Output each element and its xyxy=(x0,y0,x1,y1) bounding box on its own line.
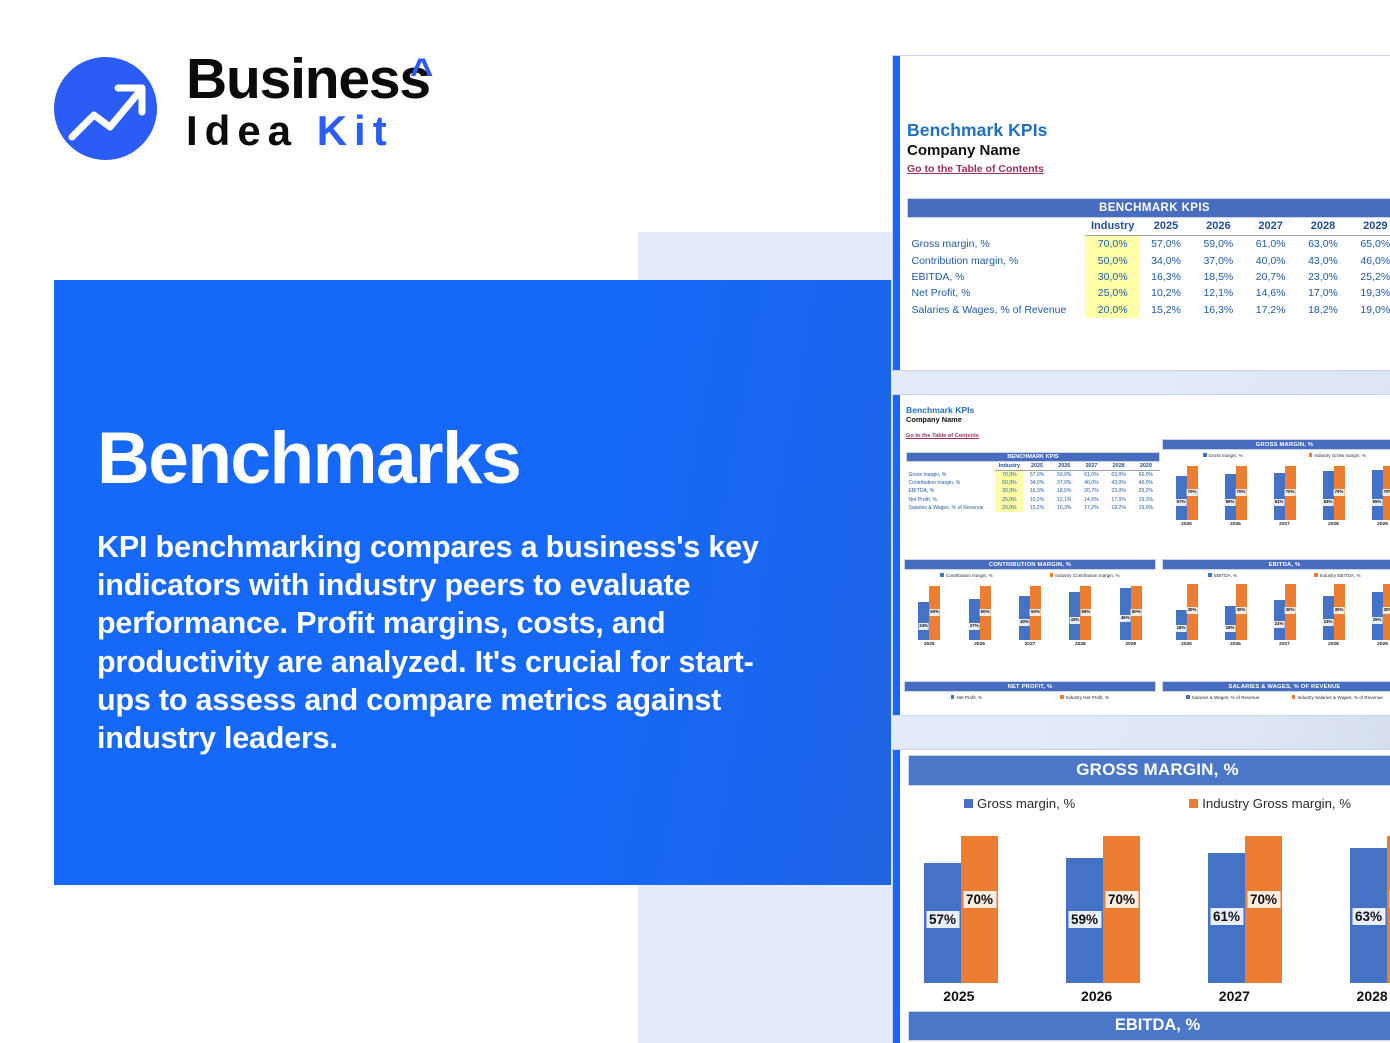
mini-chart-legend: Salaries & Wages, % of Revenue Industry … xyxy=(1162,692,1390,700)
row-label: Gross margin, % xyxy=(908,236,1086,253)
bar-industry: 30% xyxy=(1334,584,1345,640)
bar-company: 37% xyxy=(969,599,980,640)
col-header-2028: 2028 xyxy=(1105,462,1132,471)
mini-chart-x-axis: 2025 2026 2027 2028 2029 xyxy=(1162,640,1390,647)
table-row: Net Profit, % 25,0% 10,2% 12,1% 14,6% 17… xyxy=(908,285,1390,301)
bar-group-2027: 61% 70% xyxy=(1208,836,1282,983)
mini-chart-title: SALARIES & WAGES, % OF REVENUE xyxy=(1162,681,1390,692)
bar-group-2025: 57% 70% xyxy=(924,836,998,983)
cell-2025: 57,0% xyxy=(1140,236,1192,253)
legend-swatch-icon xyxy=(1314,573,1318,577)
x-tick: 2026 xyxy=(1230,522,1241,527)
bar-industry: 30% xyxy=(1383,584,1390,640)
legend-swatch-icon xyxy=(1292,695,1296,699)
chart-title: GROSS MARGIN, % xyxy=(908,755,1390,786)
bar-industry-2027: 70% xyxy=(1245,836,1282,983)
bar-company-2026: 59% xyxy=(1066,858,1103,983)
col-header-2029: 2029 xyxy=(1349,218,1390,236)
legend-swatch-icon xyxy=(1050,573,1054,577)
mini-chart-legend: EBITDA, % Industry EBITDA, % xyxy=(1162,570,1390,578)
chart-x-axis: 2025 2026 2027 2028 xyxy=(908,988,1390,1004)
cell-2028: 63,0% xyxy=(1297,236,1349,253)
brand-logo[interactable]: Business ^ Idea Kit xyxy=(54,48,474,166)
brand-idea-text: Idea xyxy=(186,107,317,154)
row-label: EBITDA, % xyxy=(908,269,1086,285)
table-band-header: BENCHMARK KPIS xyxy=(908,199,1390,218)
x-tick: 2028 xyxy=(1328,522,1339,527)
table-row: Contribution margin, % 50,0% 34,0% 37,0%… xyxy=(908,252,1390,268)
mini-chart-title: EBITDA, % xyxy=(1162,559,1390,570)
bar-group: 18% 30% xyxy=(1225,584,1247,640)
cell-2027: 20,7% xyxy=(1245,269,1297,285)
x-tick: 2029 xyxy=(1377,642,1388,647)
legend-swatch-icon xyxy=(1309,453,1313,457)
mini-chart-title: CONTRIBUTION MARGIN, % xyxy=(904,559,1156,570)
bar-company: 18% xyxy=(1225,606,1236,640)
cell-industry: 25,0% xyxy=(1085,285,1139,301)
bar-company: 16% xyxy=(1176,610,1187,640)
table-of-contents-link[interactable]: Go to the Table of Contents xyxy=(906,433,979,439)
bar-group: 43% 50% xyxy=(1069,586,1091,640)
benchmark-kpis-table: BENCHMARK KPIS Industry 2025 2026 2027 2… xyxy=(907,198,1390,318)
mini-chart-x-axis: 2025 2026 2027 2028 2029 xyxy=(904,640,1156,647)
bar-company-2027: 61% xyxy=(1208,853,1245,983)
x-tick: 2027 xyxy=(1279,642,1290,647)
bar-company: 59% xyxy=(1225,474,1236,520)
table-of-contents-link[interactable]: Go to the Table of Contents xyxy=(907,163,1044,175)
cell-2029: 25,2% xyxy=(1349,269,1390,285)
cell-industry: 50,0% xyxy=(1085,252,1139,268)
mini-chart-x-axis: 2025 2026 2027 2028 2029 xyxy=(1162,520,1390,527)
x-tick: 2029 xyxy=(1125,642,1136,647)
mini-chart-plot: 16% 30% 18% 30% 21% 30% 23% 30% xyxy=(1162,578,1390,640)
bar-industry: 50% xyxy=(980,586,991,640)
content-callout-box: Benchmarks KPI benchmarking compares a b… xyxy=(54,280,891,885)
mini-chart-gross-margin[interactable]: GROSS MARGIN, % Gross margin, % Industry… xyxy=(1162,439,1390,527)
bar-group: 25% 30% xyxy=(1372,584,1390,640)
legend-label: Industry Net Profit, % xyxy=(1066,695,1109,700)
mini-chart-plot: 34% 50% 37% 50% 40% 50% 43% 50% xyxy=(904,578,1156,640)
chart-panel-gross-margin-large[interactable]: GROSS MARGIN, % Gross margin, % Industry… xyxy=(893,750,1390,1043)
bar-industry: 30% xyxy=(1187,584,1198,640)
bar-group-2026: 59% 70% xyxy=(1066,836,1140,983)
cell-2026: 37,0% xyxy=(1192,252,1244,268)
legend-label: Industry Gross margin, % xyxy=(1202,796,1351,811)
bar-group: 63% 70% xyxy=(1323,466,1345,520)
bar-company: 46% xyxy=(1120,588,1131,640)
bar-group: 16% 30% xyxy=(1176,584,1198,640)
bar-industry: 70% xyxy=(1285,466,1296,520)
bar-industry-2025: 70% xyxy=(961,836,998,983)
bar-group: 57% 70% xyxy=(1176,466,1198,520)
legend-label: Industry Salaries & Wages, % of Revenue xyxy=(1297,695,1382,700)
legend-label: Salaries & Wages, % of Revenue xyxy=(1192,695,1260,700)
cell-2028: 18,2% xyxy=(1297,302,1349,318)
mini-chart-net-profit[interactable]: NET PROFIT, % Net Profit, % Industry Net… xyxy=(904,681,1156,700)
bar-company-2025: 57% xyxy=(924,863,961,983)
legend-label: Gross margin, % xyxy=(977,796,1075,811)
bar-industry: 70% xyxy=(1236,466,1247,520)
brand-name-line1: Business xyxy=(186,48,430,110)
bar-industry: 50% xyxy=(1030,586,1041,640)
bar-industry-2026: 70% xyxy=(1103,836,1140,983)
legend-swatch-icon xyxy=(1203,453,1207,457)
spreadsheet-panel-dashboard[interactable]: Benchmark KPIs Company Name Go to the Ta… xyxy=(893,395,1390,715)
bar-group: 65% 70% xyxy=(1372,466,1390,520)
cell-2028: 17,0% xyxy=(1297,285,1349,301)
cell-2027: 17,2% xyxy=(1245,302,1297,318)
row-label: Contribution margin, % xyxy=(908,252,1086,268)
legend-swatch-icon xyxy=(1189,799,1198,808)
sheet-subtitle: Company Name xyxy=(907,142,1390,159)
legend-swatch-icon xyxy=(964,799,973,808)
bar-group: 23% 30% xyxy=(1323,584,1345,640)
cell-2029: 19,0% xyxy=(1349,302,1390,318)
col-header-industry: Industry xyxy=(1085,218,1139,236)
table-row: Gross margin, % 70,0% 57,0% 59,0% 61,0% … xyxy=(907,471,1160,480)
mini-chart-contribution-margin[interactable]: CONTRIBUTION MARGIN, % Contribution marg… xyxy=(904,559,1156,647)
row-label: Net Profit, % xyxy=(908,285,1086,301)
x-tick: 2027 xyxy=(1279,522,1290,527)
bar-company: 21% xyxy=(1274,600,1285,640)
table-row: Net Profit, % 25,0% 10,2% 12,1% 14,6% 17… xyxy=(907,496,1160,504)
cell-2027: 14,6% xyxy=(1245,285,1297,301)
bar-company: 57% xyxy=(1176,476,1187,520)
mini-chart-salaries-wages[interactable]: SALARIES & WAGES, % OF REVENUE Salaries … xyxy=(1162,681,1390,700)
bar-industry: 50% xyxy=(929,586,940,640)
bar-company: 61% xyxy=(1274,473,1285,520)
bar-group: 61% 70% xyxy=(1274,466,1296,520)
legend-label: Net Profit, % xyxy=(956,695,982,700)
bar-company: 63% xyxy=(1323,471,1334,520)
cell-2026: 16,3% xyxy=(1192,302,1244,318)
col-header-2025: 2025 xyxy=(1023,462,1050,471)
mini-chart-ebitda[interactable]: EBITDA, % EBITDA, % Industry EBITDA, % 1… xyxy=(1162,559,1390,647)
bar-group: 40% 50% xyxy=(1019,586,1041,640)
x-tick-2026: 2026 xyxy=(1062,988,1132,1004)
mini-chart-plot: 57% 70% 59% 70% 61% 70% 63% 70% xyxy=(1162,458,1390,520)
cell-2028: 43,0% xyxy=(1297,252,1349,268)
bar-industry: 70% xyxy=(1383,466,1390,520)
bar-group-2028: 63% 70% xyxy=(1350,836,1390,983)
bar-industry: 50% xyxy=(1080,586,1091,640)
cell-2025: 16,3% xyxy=(1140,269,1192,285)
mini-chart-title: GROSS MARGIN, % xyxy=(1162,439,1390,450)
table-row: Gross margin, % 70,0% 57,0% 59,0% 61,0% … xyxy=(908,236,1390,253)
page-title: Benchmarks xyxy=(97,420,520,498)
cell-industry: 20,0% xyxy=(1085,302,1139,318)
sheet-title: Benchmark KPIs xyxy=(907,120,1390,141)
cell-industry: 70,0% xyxy=(1085,236,1139,253)
cell-2026: 18,5% xyxy=(1192,269,1244,285)
col-header-blank xyxy=(907,462,996,471)
bar-group: 59% 70% xyxy=(1225,466,1247,520)
bar-industry: 70% xyxy=(1187,466,1198,520)
x-tick-2027: 2027 xyxy=(1200,988,1270,1004)
chart-plot-area: 57% 70% 59% 70% 61% 70% 63% 70% 65% xyxy=(908,831,1390,983)
mini-chart-legend: Contribution margin, % Industry Contribu… xyxy=(904,570,1156,578)
bar-company: 25% xyxy=(1372,592,1383,640)
cell-2026: 59,0% xyxy=(1192,236,1244,253)
brand-name-line2: Idea Kit xyxy=(186,108,430,154)
bar-company: 34% xyxy=(918,602,929,640)
cell-2027: 61,0% xyxy=(1245,236,1297,253)
bar-group: 46% 50% xyxy=(1120,586,1142,640)
benchmark-kpis-table-mini: BENCHMARK KPIS Industry 2025 2026 2027 2… xyxy=(906,452,1160,512)
table-row: Contribution margin, % 50,0% 34,0% 37,0%… xyxy=(907,479,1160,487)
bar-group: 34% 50% xyxy=(918,586,940,640)
table-band-label: BENCHMARK KPIS xyxy=(907,453,1160,462)
cell-2027: 40,0% xyxy=(1245,252,1297,268)
col-header-blank xyxy=(908,218,1086,236)
table-row: EBITDA, % 30,0% 16,3% 18,5% 20,7% 23,0% … xyxy=(907,487,1160,495)
bar-group: 21% 30% xyxy=(1274,584,1296,640)
bar-company: 23% xyxy=(1323,596,1334,640)
legend-swatch-icon xyxy=(1208,573,1212,577)
slide-canvas: Business ^ Idea Kit Benchmarks KPI bench… xyxy=(0,0,1390,1043)
cell-2025: 15,2% xyxy=(1140,302,1192,318)
row-label: Salaries & Wages, % of Revenue xyxy=(908,302,1086,318)
col-header-2028: 2028 xyxy=(1297,218,1349,236)
bar-industry: 30% xyxy=(1236,584,1247,640)
panel-accent-stripe xyxy=(893,750,900,1043)
bar-company-2028: 63% xyxy=(1350,848,1387,983)
mini-chart-legend: Net Profit, % Industry Net Profit, % xyxy=(904,692,1156,700)
x-tick: 2027 xyxy=(1025,642,1036,647)
cell-2025: 10,2% xyxy=(1140,285,1192,301)
sheet-title: Benchmark KPIs xyxy=(906,405,1390,415)
x-tick: 2025 xyxy=(1181,642,1192,647)
bar-company: 65% xyxy=(1372,470,1383,520)
x-tick: 2028 xyxy=(1328,642,1339,647)
legend-swatch-icon xyxy=(951,695,955,699)
col-header-2027: 2027 xyxy=(1245,218,1297,236)
col-header-2026: 2026 xyxy=(1051,462,1078,471)
chart-title-ebitda: EBITDA, % xyxy=(908,1011,1390,1041)
col-header-2029: 2029 xyxy=(1132,462,1159,471)
col-header-2026: 2026 xyxy=(1192,218,1244,236)
col-header-industry: Industry xyxy=(995,462,1023,471)
cell-2025: 34,0% xyxy=(1140,252,1192,268)
bar-company: 43% xyxy=(1069,592,1080,640)
table-row: Salaries & Wages, % of Revenue 20,0% 15,… xyxy=(908,302,1390,318)
bar-industry: 70% xyxy=(1334,466,1345,520)
x-tick: 2026 xyxy=(974,642,985,647)
sheet-subtitle: Company Name xyxy=(906,415,1390,424)
bar-group: 37% 50% xyxy=(969,586,991,640)
bar-industry: 30% xyxy=(1285,584,1296,640)
x-tick: 2025 xyxy=(1181,522,1192,527)
cell-2029: 46,0% xyxy=(1349,252,1390,268)
brand-kit-text: Kit xyxy=(317,107,394,154)
circumflex-accent-icon: ^ xyxy=(410,51,433,96)
legend-swatch-icon xyxy=(1186,695,1190,699)
cell-2026: 12,1% xyxy=(1192,285,1244,301)
cell-2029: 19,3% xyxy=(1349,285,1390,301)
x-tick: 2025 xyxy=(924,642,935,647)
bar-industry: 50% xyxy=(1131,586,1142,640)
cell-2028: 23,0% xyxy=(1297,269,1349,285)
x-tick-2028: 2028 xyxy=(1337,988,1390,1004)
table-band-label: BENCHMARK KPIS xyxy=(908,199,1390,218)
legend-swatch-icon xyxy=(940,573,944,577)
mini-chart-title: NET PROFIT, % xyxy=(904,681,1156,692)
cell-2029: 65,0% xyxy=(1349,236,1390,253)
x-tick: 2029 xyxy=(1377,522,1388,527)
bar-company: 40% xyxy=(1019,596,1030,640)
x-tick-2025: 2025 xyxy=(924,988,994,1004)
table-row: Salaries & Wages, % of Revenue 20,0% 15,… xyxy=(907,504,1160,512)
col-header-2027: 2027 xyxy=(1078,462,1105,471)
spreadsheet-panel-table[interactable]: Benchmark KPIs Company Name Go to the Ta… xyxy=(893,56,1390,370)
mini-chart-legend: Gross margin, % Industry Gross margin, % xyxy=(1162,450,1390,458)
table-column-headers: Industry 2025 2026 2027 2028 2029 xyxy=(908,218,1390,236)
cell-industry: 30,0% xyxy=(1085,269,1139,285)
trend-arrow-up-icon xyxy=(54,57,157,160)
legend-swatch-icon xyxy=(1060,695,1064,699)
x-tick: 2026 xyxy=(1230,642,1241,647)
x-tick: 2028 xyxy=(1075,642,1086,647)
body-description: KPI benchmarking compares a business's k… xyxy=(97,528,777,757)
panel-accent-stripe xyxy=(893,56,900,370)
chart-legend: Gross margin, % Industry Gross margin, % xyxy=(908,786,1390,811)
col-header-2025: 2025 xyxy=(1140,218,1192,236)
table-row: EBITDA, % 30,0% 16,3% 18,5% 20,7% 23,0% … xyxy=(908,269,1390,285)
panel-accent-stripe xyxy=(893,395,900,715)
